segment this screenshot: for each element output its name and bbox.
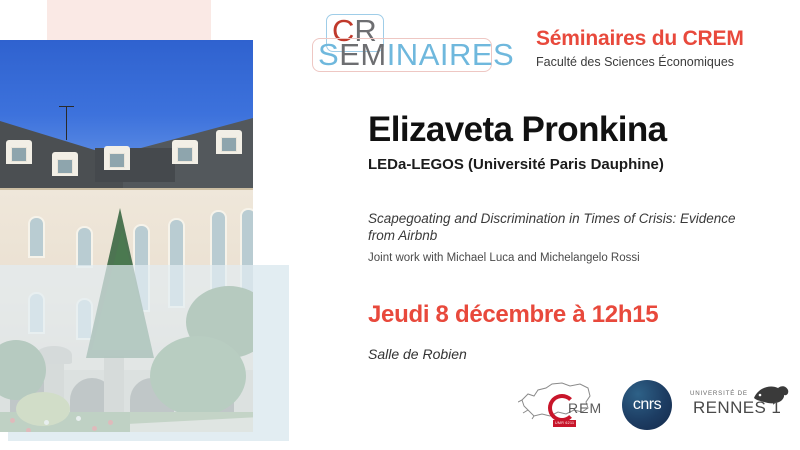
flower (108, 420, 113, 425)
facade-window (28, 216, 45, 258)
flower (44, 420, 49, 425)
seminar-poster: CR SEMINAIRES Séminaires du CREM Faculté… (0, 0, 800, 450)
dormer-window (216, 130, 242, 154)
header-title: Séminaires du CREM (536, 26, 786, 51)
cr-seminaires-logo: CR SEMINAIRES (312, 14, 492, 76)
speaker-affiliation: LEDa-LEGOS (Université Paris Dauphine) (368, 154, 782, 176)
dormer-window (104, 146, 130, 170)
decorative-pink-block (47, 0, 211, 42)
seminaires-letters-rest: INAIRES (387, 37, 515, 72)
joint-work-credit: Joint work with Michael Luca and Michela… (368, 250, 782, 266)
facade-window (168, 218, 185, 308)
dormer-window (172, 140, 198, 164)
flower (26, 428, 31, 432)
crem-tagline: UMR 6211 (553, 420, 576, 427)
dormer-window (6, 140, 32, 164)
roof-antenna (66, 106, 67, 140)
rennes-line1: UNIVERSITÉ DE (690, 390, 748, 398)
conifer-tree (92, 230, 152, 350)
flower (92, 426, 97, 431)
flower (76, 416, 81, 421)
seminaires-letter-s: S (318, 37, 339, 72)
crem-wordmark: REM UMR 6211 (548, 394, 604, 430)
universite-rennes1-logo: UNIVERSITÉ DE RENNES 1 (690, 386, 788, 426)
building-courtyard-photo (0, 40, 253, 432)
poster-content: Elizaveta Pronkina LEDa-LEGOS (Universit… (368, 108, 782, 364)
crem-letters: REM (568, 400, 602, 416)
header-subtitle: Faculté des Sciences Économiques (536, 53, 786, 71)
shrub (150, 336, 246, 416)
seminaires-letters-em: EM (339, 37, 387, 72)
shrub (16, 392, 70, 426)
cnrs-logo: cnrs (622, 380, 672, 430)
event-date: Jeudi 8 décembre à 12h15 (368, 300, 782, 330)
rennes-line2: RENNES 1 (693, 398, 781, 418)
cnrs-label: cnrs (622, 380, 672, 430)
facade-window (28, 292, 45, 334)
paper-title: Scapegoating and Discrimination in Times… (368, 210, 740, 244)
poster-header: Séminaires du CREM Faculté des Sciences … (536, 26, 786, 71)
event-room: Salle de Robien (368, 344, 782, 364)
speaker-name: Elizaveta Pronkina (368, 108, 782, 152)
seminaires-logo-text: SEMINAIRES (318, 36, 514, 74)
footer-logo-row: REM UMR 6211 cnrs UNIVERSITÉ DE RENNES 1 (518, 378, 784, 434)
dormer-window (52, 152, 78, 176)
flower (10, 418, 15, 423)
crem-logo: REM UMR 6211 (518, 378, 604, 432)
